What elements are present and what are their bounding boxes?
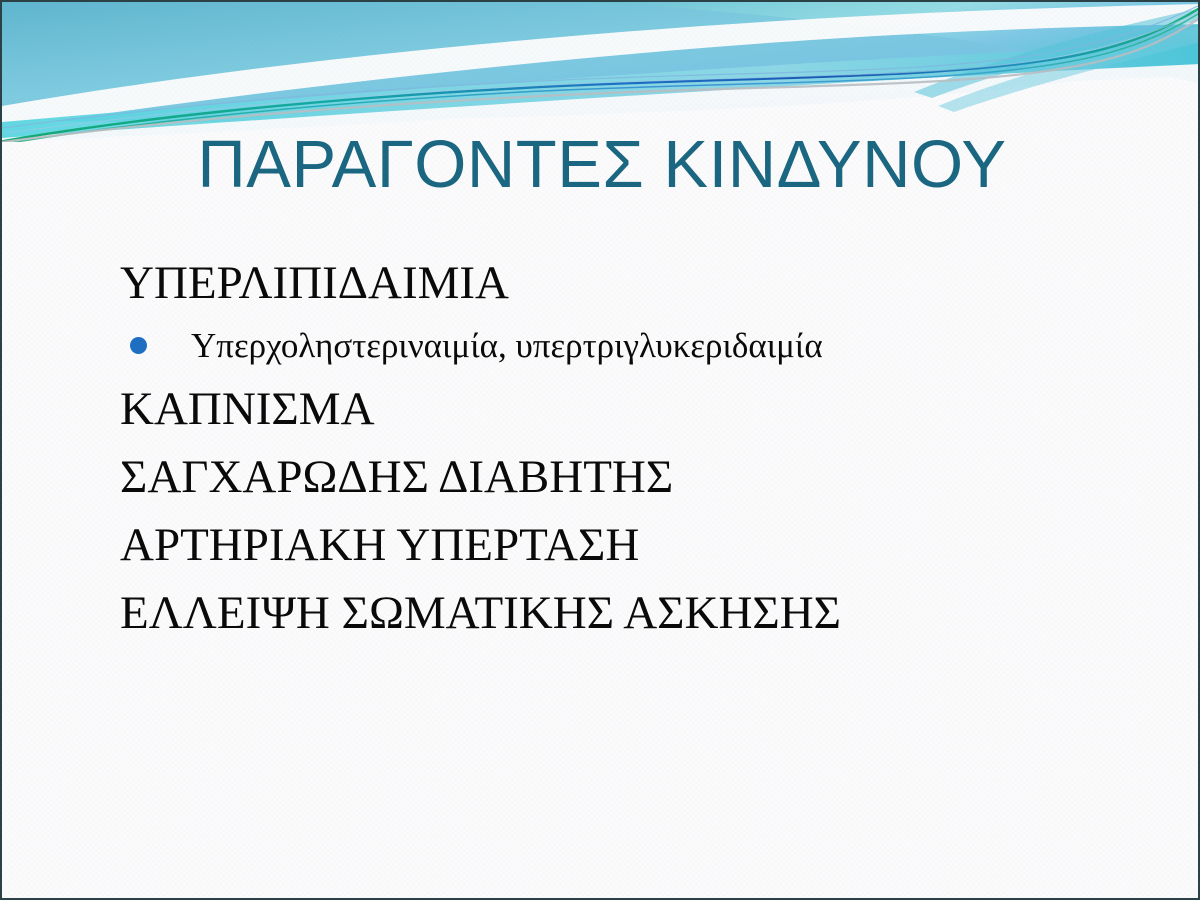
body-line: ΑΡΤΗΡΙΑΚΗ ΥΠΕΡΤΑΣΗ (120, 522, 1140, 569)
slide-title: ΠΑΡΑΓΟΝΤΕΣ ΚΙΝΔΥΝΟΥ (2, 130, 1200, 200)
body-line: ΚΑΠΝΙΣΜΑ (120, 386, 1140, 433)
header-wave-decoration (2, 2, 1200, 142)
body-line: ΥΠΕΡΛΙΠΙΔΑΙΜΙΑ (120, 260, 1140, 307)
presentation-slide: ΠΑΡΑΓΟΝΤΕΣ ΚΙΝΔΥΝΟΥ ΥΠΕΡΛΙΠΙΔΑΙΜΙΑ Υπερχ… (0, 0, 1200, 900)
bullet-dot-icon (130, 337, 147, 354)
body-line: ΣΑΓΧΑΡΩΔΗΣ ΔΙΑΒΗΤΗΣ (120, 454, 1140, 501)
body-bullet-item: Υπερχοληστεριναιμία, υπερτριγλυκεριδαιμί… (120, 328, 1140, 363)
body-bullet-label: Υπερχοληστεριναιμία, υπερτριγλυκεριδαιμί… (191, 328, 823, 363)
slide-body: ΥΠΕΡΛΙΠΙΔΑΙΜΙΑ Υπερχοληστεριναιμία, υπερ… (120, 260, 1140, 658)
body-line: ΕΛΛΕΙΨΗ ΣΩΜΑΤΙΚΗΣ ΑΣΚΗΣΗΣ (120, 590, 1140, 637)
